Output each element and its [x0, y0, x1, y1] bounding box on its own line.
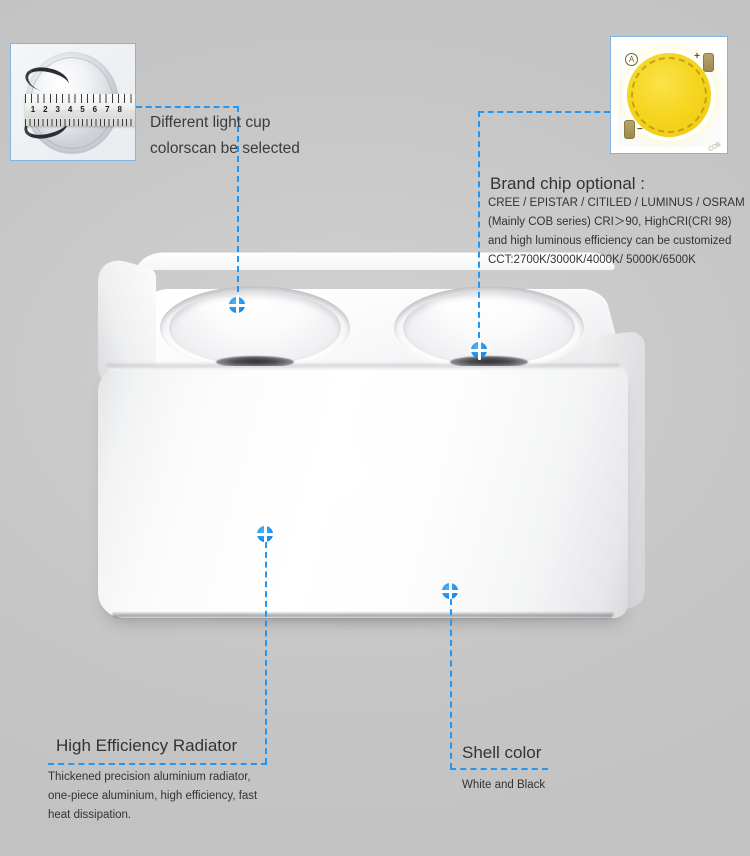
chip-brand-logo-icon: A	[625, 53, 638, 66]
ruler-number: 8	[114, 105, 126, 114]
infographic-canvas: 1 2 3 4 5 6 7 8 A + − COB	[0, 0, 750, 856]
callout-light-cup-line2: colorscan be selected	[150, 136, 300, 162]
callout-text-brand-chip: CREE / EPISTAR / CITILED / LUMINUS / OSR…	[488, 194, 745, 270]
product-bottom-rim	[112, 612, 614, 619]
light-cup-thumbnail[interactable]: 1 2 3 4 5 6 7 8	[10, 43, 136, 161]
marker-crosshair-vertical-icon	[264, 524, 267, 544]
ruler: 1 2 3 4 5 6 7 8	[25, 94, 136, 126]
ruler-number: 3	[52, 105, 64, 114]
callout-title-radiator: High Efficiency Radiator	[56, 733, 237, 759]
callout-marker-brand-chip[interactable]	[470, 341, 488, 359]
callout-marker-shell-color[interactable]	[441, 582, 459, 600]
chip-anode-pad	[703, 53, 714, 72]
shell-color-value: White and Black	[462, 776, 545, 795]
radiator-line-1: Thickened precision aluminium radiator,	[48, 768, 257, 787]
brand-chip-line-1: CREE / EPISTAR / CITILED / LUMINUS / OSR…	[488, 194, 745, 213]
callout-text-shell-color: White and Black	[462, 776, 545, 795]
chip-plus-sign: +	[694, 51, 700, 62]
light-cup-right	[394, 286, 584, 370]
marker-crosshair-vertical-icon	[236, 295, 239, 315]
product-edge-seam	[106, 362, 620, 370]
chip-cathode-pad	[624, 120, 635, 139]
radiator-line-3: heat dissipation.	[48, 806, 257, 825]
marker-crosshair-vertical-icon	[449, 581, 452, 601]
ruler-number: 2	[39, 105, 51, 114]
ruler-numbers: 1 2 3 4 5 6 7 8	[25, 103, 136, 116]
callout-line-shell-color-horizontal	[450, 768, 548, 770]
marker-crosshair-vertical-icon	[478, 340, 481, 360]
chip-minus-sign: −	[637, 124, 643, 135]
callout-line-brand-chip-horizontal	[478, 111, 610, 113]
product-front-sheen	[242, 374, 452, 612]
ruler-number: 7	[101, 105, 113, 114]
product-image	[92, 244, 648, 628]
ruler-number: 1	[27, 105, 39, 114]
callout-light-cup-line1: Different light cup	[150, 110, 300, 136]
callout-line-radiator-vertical	[265, 542, 267, 764]
callout-marker-light-cup[interactable]	[228, 296, 246, 314]
callout-line-brand-chip-vertical	[478, 111, 480, 348]
ruler-number: 6	[89, 105, 101, 114]
radiator-line-2: one-piece aluminium, high efficiency, fa…	[48, 787, 257, 806]
light-cup-left	[160, 286, 350, 370]
brand-chip-line-4: CCT:2700K/3000K/4000K/ 5000K/6500K	[488, 251, 745, 270]
ruler-minor-ticks	[25, 119, 136, 126]
brand-chip-line-2: (Mainly COB series) CRI＞90, HighCRI(CRI …	[488, 213, 745, 232]
callout-text-light-cup: Different light cup colorscan be selecte…	[150, 110, 300, 162]
cob-chip-thumbnail[interactable]: A + − COB	[610, 36, 728, 154]
callout-line-shell-color-vertical	[450, 599, 452, 769]
brand-chip-line-3: and high luminous efficiency can be cust…	[488, 232, 745, 251]
callout-title-shell-color: Shell color	[462, 740, 541, 766]
light-cup-right-highlight	[420, 295, 506, 321]
chip-phosphor-dashed-edge	[631, 57, 707, 133]
callout-line-light-cup-horizontal	[136, 106, 239, 108]
callout-text-radiator: Thickened precision aluminium radiator, …	[48, 768, 257, 825]
callout-marker-radiator[interactable]	[256, 525, 274, 543]
callout-line-radiator-horizontal	[48, 763, 267, 765]
ruler-number: 5	[77, 105, 89, 114]
ruler-number: 4	[64, 105, 76, 114]
ruler-major-ticks	[25, 94, 136, 103]
